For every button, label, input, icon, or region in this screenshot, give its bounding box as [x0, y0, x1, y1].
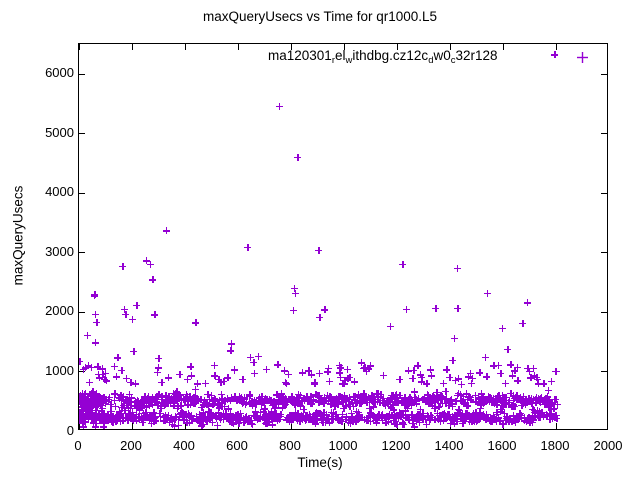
data-point-marker — [129, 409, 136, 416]
data-point-marker — [114, 416, 121, 423]
data-point-marker — [248, 420, 255, 427]
data-point-marker — [263, 396, 270, 403]
data-point-marker — [92, 392, 99, 399]
data-point-marker — [145, 393, 152, 400]
data-point-marker — [122, 311, 129, 318]
data-point-marker — [89, 409, 96, 416]
data-point-marker — [438, 396, 445, 403]
data-point-marker — [297, 402, 304, 409]
data-point-marker — [230, 413, 237, 420]
data-point-marker — [544, 398, 551, 405]
data-point-marker — [379, 417, 386, 424]
data-point-marker — [470, 410, 477, 417]
data-point-marker — [495, 414, 502, 421]
data-point-marker — [100, 423, 107, 430]
data-point-marker — [331, 403, 338, 410]
data-point-marker — [203, 400, 210, 407]
data-point-marker — [123, 375, 130, 382]
data-point-marker — [92, 407, 99, 414]
data-point-marker — [327, 397, 334, 404]
data-point-marker — [353, 408, 360, 415]
data-point-marker — [485, 393, 492, 400]
data-point-marker — [404, 405, 411, 412]
data-point-marker — [545, 404, 552, 411]
data-point-marker — [380, 400, 387, 407]
data-point-marker — [96, 411, 103, 418]
data-point-marker — [382, 400, 389, 407]
data-point-marker — [523, 399, 530, 406]
data-point-marker — [537, 395, 544, 402]
data-point-marker — [82, 390, 89, 397]
data-point-marker — [526, 419, 533, 426]
data-point-marker — [78, 410, 83, 417]
data-point-marker — [88, 416, 95, 423]
data-point-marker — [251, 413, 258, 420]
data-point-marker — [204, 391, 211, 398]
data-point-marker — [196, 411, 203, 418]
data-point-marker — [272, 404, 279, 411]
data-point-marker — [284, 414, 291, 421]
data-point-marker — [131, 414, 138, 421]
data-point-marker — [97, 398, 104, 405]
data-point-marker — [374, 398, 381, 405]
data-point-marker — [407, 399, 414, 406]
data-point-marker — [203, 401, 210, 408]
data-point-marker — [166, 419, 173, 426]
data-point-marker — [305, 416, 312, 423]
data-point-marker — [507, 390, 514, 397]
data-point-marker — [172, 413, 179, 420]
data-point-marker — [528, 395, 535, 402]
data-point-marker — [109, 419, 116, 426]
data-point-marker — [260, 399, 267, 406]
data-point-marker — [424, 392, 431, 399]
data-point-marker — [191, 395, 198, 402]
data-point-marker — [435, 394, 442, 401]
data-point-marker — [101, 376, 108, 383]
data-point-marker — [443, 400, 450, 407]
data-point-marker — [187, 401, 194, 408]
data-point-marker — [375, 391, 382, 398]
data-point-marker — [530, 416, 537, 423]
data-point-marker — [449, 403, 456, 410]
data-point-marker — [118, 404, 125, 411]
data-point-marker — [290, 414, 297, 421]
data-point-marker — [143, 404, 150, 411]
data-point-marker — [234, 416, 241, 423]
data-point-marker — [167, 399, 174, 406]
data-point-marker — [397, 413, 404, 420]
data-point-marker — [328, 415, 335, 422]
data-point-marker — [437, 392, 444, 399]
data-point-marker — [245, 416, 252, 423]
data-point-marker — [87, 407, 94, 414]
data-point-marker — [521, 414, 528, 421]
data-point-marker — [394, 397, 401, 404]
data-point-marker — [388, 412, 395, 419]
data-point-marker — [220, 416, 227, 423]
data-point-marker — [314, 415, 321, 422]
data-point-marker — [317, 395, 324, 402]
data-point-marker — [134, 402, 141, 409]
data-point-marker — [264, 418, 271, 425]
data-point-marker — [237, 395, 244, 402]
data-point-marker — [137, 401, 144, 408]
data-point-marker — [511, 395, 518, 402]
data-point-marker — [290, 307, 297, 314]
data-point-marker — [130, 417, 137, 424]
data-point-marker — [244, 416, 251, 423]
data-point-marker — [387, 403, 394, 410]
data-point-marker — [270, 415, 277, 422]
data-point-marker — [462, 416, 469, 423]
data-point-marker — [220, 378, 227, 385]
data-point-marker — [349, 413, 356, 420]
data-point-marker — [94, 403, 101, 410]
data-point-marker — [157, 403, 164, 410]
data-point-marker — [320, 400, 327, 407]
data-point-marker — [146, 417, 153, 424]
data-point-marker — [390, 401, 397, 408]
data-point-marker — [292, 409, 299, 416]
data-point-marker — [501, 394, 508, 401]
data-point-marker — [168, 414, 175, 421]
data-point-marker — [301, 397, 308, 404]
data-point-marker — [343, 402, 350, 409]
data-point-marker — [126, 391, 133, 398]
data-point-marker — [327, 401, 334, 408]
data-point-marker — [267, 399, 274, 406]
data-point-marker — [249, 421, 256, 428]
data-point-marker — [538, 411, 545, 418]
data-point-marker — [179, 411, 186, 418]
data-point-marker — [547, 402, 554, 409]
data-point-marker — [152, 414, 159, 421]
data-point-marker — [408, 414, 415, 421]
data-point-marker — [533, 394, 540, 401]
data-point-marker — [374, 390, 381, 397]
data-point-marker — [83, 405, 90, 412]
data-point-marker — [209, 397, 216, 404]
data-point-marker — [276, 397, 283, 404]
data-point-marker — [271, 400, 278, 407]
data-point-marker — [200, 409, 207, 416]
data-point-marker — [453, 416, 460, 423]
data-point-marker — [217, 379, 224, 386]
data-point-marker — [108, 413, 115, 420]
data-point-marker — [269, 412, 276, 419]
data-point-marker — [221, 397, 228, 404]
data-point-marker — [402, 414, 409, 421]
data-point-marker — [302, 415, 309, 422]
data-point-marker — [104, 415, 111, 422]
data-point-marker — [428, 372, 435, 379]
data-point-marker — [154, 402, 161, 409]
data-point-marker — [347, 420, 354, 427]
data-point-marker — [85, 412, 92, 419]
data-point-marker — [431, 405, 438, 412]
data-point-marker — [163, 416, 170, 423]
data-point-marker — [239, 376, 246, 383]
data-point-marker — [252, 399, 259, 406]
data-point-marker — [229, 414, 236, 421]
data-point-marker — [443, 395, 450, 402]
data-point-marker — [99, 365, 106, 372]
data-point-marker — [553, 368, 560, 375]
x-tick-label: 1400 — [435, 439, 464, 452]
data-point-marker — [78, 395, 84, 402]
data-point-marker — [520, 393, 527, 400]
data-point-marker — [466, 414, 473, 421]
y-tick-mark-right — [601, 74, 607, 75]
data-point-marker — [250, 412, 257, 419]
data-point-marker — [544, 393, 551, 400]
data-point-marker — [353, 418, 360, 425]
data-point-marker — [462, 410, 469, 417]
data-point-marker — [485, 394, 492, 401]
x-tick-mark — [291, 423, 292, 429]
data-point-marker — [394, 399, 401, 406]
data-point-marker — [489, 417, 496, 424]
data-point-marker — [231, 366, 238, 373]
data-point-marker — [238, 414, 245, 421]
data-point-marker — [430, 395, 437, 402]
x-tick-mark — [503, 423, 504, 429]
data-point-marker — [104, 417, 111, 424]
data-point-marker — [201, 413, 208, 420]
data-point-marker — [525, 395, 532, 402]
data-point-marker — [497, 370, 504, 377]
data-point-marker — [176, 414, 183, 421]
data-point-marker — [119, 414, 126, 421]
data-point-marker — [193, 395, 200, 402]
data-point-marker — [177, 402, 184, 409]
data-point-marker — [330, 409, 337, 416]
data-point-marker — [268, 408, 275, 415]
data-point-marker — [442, 412, 449, 419]
data-point-marker — [151, 415, 158, 422]
data-point-marker — [99, 371, 106, 378]
data-point-marker — [302, 417, 309, 424]
data-point-marker — [203, 418, 210, 425]
data-point-marker — [87, 395, 94, 402]
data-point-marker — [501, 400, 508, 407]
data-point-marker — [389, 398, 396, 405]
data-point-marker — [443, 366, 450, 373]
data-point-marker — [100, 398, 107, 405]
data-point-marker — [385, 415, 392, 422]
data-point-marker — [441, 396, 448, 403]
data-point-marker — [426, 416, 433, 423]
data-point-marker — [457, 397, 464, 404]
data-point-marker — [399, 421, 406, 428]
data-point-marker — [251, 370, 258, 377]
data-point-marker — [287, 412, 294, 419]
data-point-marker — [210, 397, 217, 404]
data-point-marker — [381, 399, 388, 406]
data-point-marker — [226, 414, 233, 421]
data-point-marker — [146, 414, 153, 421]
data-point-marker — [139, 398, 146, 405]
data-point-marker — [368, 394, 375, 401]
data-point-marker — [206, 396, 213, 403]
data-point-marker — [307, 400, 314, 407]
data-point-marker — [401, 394, 408, 401]
data-point-marker — [541, 401, 548, 408]
data-point-marker — [147, 398, 154, 405]
data-point-marker — [311, 379, 318, 386]
data-point-marker — [477, 415, 484, 422]
data-point-marker — [162, 412, 169, 419]
data-point-marker — [96, 394, 103, 401]
data-point-marker — [484, 415, 491, 422]
data-point-marker — [478, 401, 485, 408]
data-point-marker — [430, 392, 437, 399]
data-point-marker — [296, 414, 303, 421]
data-point-marker — [78, 403, 85, 410]
x-tick-label: 400 — [173, 439, 195, 452]
legend: ma120301relwithdbg.cz12cdw0c32r128 — [268, 48, 498, 63]
data-point-marker — [387, 323, 394, 330]
data-point-marker — [78, 413, 83, 420]
data-point-marker — [451, 335, 458, 342]
data-point-marker — [116, 408, 123, 415]
data-point-marker — [293, 399, 300, 406]
data-point-marker — [370, 393, 377, 400]
data-point-marker — [404, 397, 411, 404]
data-point-marker — [403, 414, 410, 421]
data-point-marker — [413, 397, 420, 404]
data-point-marker — [140, 414, 147, 421]
data-point-marker — [431, 398, 438, 405]
data-point-marker — [202, 380, 209, 387]
data-point-marker — [290, 396, 297, 403]
data-point-marker — [99, 402, 106, 409]
data-point-marker — [149, 276, 156, 283]
data-point-marker — [258, 393, 265, 400]
data-point-marker — [85, 395, 92, 402]
data-point-marker — [223, 414, 230, 421]
data-point-marker — [163, 399, 170, 406]
data-point-marker — [96, 413, 103, 420]
data-point-marker — [341, 395, 348, 402]
data-point-marker — [534, 376, 541, 383]
x-axis-title: Time(s) — [0, 455, 640, 470]
data-point-marker — [322, 419, 329, 426]
data-point-marker — [117, 418, 124, 425]
data-point-marker — [393, 391, 400, 398]
data-point-marker — [316, 392, 323, 399]
data-point-marker — [532, 399, 539, 406]
data-point-marker — [551, 414, 558, 421]
data-point-marker — [300, 395, 307, 402]
data-point-marker — [445, 402, 452, 409]
data-point-marker — [261, 413, 268, 420]
data-point-marker — [276, 393, 283, 400]
x-tick-mark-top — [79, 44, 80, 50]
data-point-marker — [263, 419, 270, 426]
data-point-marker — [226, 415, 233, 422]
data-point-marker — [92, 311, 99, 318]
data-point-marker — [284, 416, 291, 423]
data-point-marker — [127, 398, 134, 405]
data-point-marker — [409, 420, 416, 427]
data-point-marker — [360, 365, 367, 372]
data-point-marker — [540, 380, 547, 387]
data-point-marker — [79, 390, 86, 397]
data-point-marker — [257, 397, 264, 404]
data-point-marker — [195, 417, 202, 424]
data-point-marker — [456, 410, 463, 417]
data-point-marker — [331, 397, 338, 404]
data-point-marker — [356, 400, 363, 407]
data-point-marker — [386, 398, 393, 405]
data-point-marker — [299, 416, 306, 423]
data-point-marker — [78, 398, 84, 405]
data-point-marker — [267, 397, 274, 404]
data-point-marker — [414, 411, 421, 418]
data-point-marker — [436, 394, 443, 401]
data-point-marker — [530, 365, 537, 372]
data-point-marker — [381, 399, 388, 406]
data-point-marker — [233, 412, 240, 419]
data-point-marker — [366, 412, 373, 419]
data-point-marker — [130, 413, 137, 420]
data-point-marker — [116, 415, 123, 422]
data-point-marker — [361, 416, 368, 423]
data-point-marker — [78, 396, 84, 403]
data-point-marker — [487, 418, 494, 425]
data-point-marker — [138, 399, 145, 406]
data-point-marker — [93, 319, 100, 326]
data-point-marker — [202, 416, 209, 423]
data-point-marker — [204, 414, 211, 421]
data-point-marker — [349, 399, 356, 406]
data-point-marker — [546, 396, 553, 403]
data-point-marker — [540, 413, 547, 420]
data-point-marker — [391, 396, 398, 403]
data-point-marker — [88, 409, 95, 416]
data-point-marker — [427, 412, 434, 419]
data-point-marker — [367, 418, 374, 425]
data-point-marker — [321, 306, 328, 313]
data-point-marker — [385, 413, 392, 420]
data-point-marker — [469, 416, 476, 423]
data-point-marker — [275, 413, 282, 420]
data-point-marker — [279, 404, 286, 411]
data-point-marker — [317, 411, 324, 418]
data-point-marker — [117, 410, 124, 417]
data-point-marker — [240, 419, 247, 426]
data-point-marker — [243, 415, 250, 422]
data-point-marker — [549, 399, 556, 406]
data-point-marker — [78, 398, 83, 405]
data-point-marker — [529, 413, 536, 420]
data-point-marker — [126, 410, 133, 417]
data-point-marker — [376, 399, 383, 406]
data-point-marker — [301, 415, 308, 422]
data-point-marker — [102, 370, 109, 377]
data-point-marker — [420, 416, 427, 423]
data-point-marker — [207, 411, 214, 418]
data-point-marker — [344, 395, 351, 402]
data-point-marker — [299, 413, 306, 420]
data-point-marker — [199, 413, 206, 420]
data-point-marker — [89, 397, 96, 404]
data-point-marker — [481, 398, 488, 405]
x-tick-mark — [450, 423, 451, 429]
data-point-marker — [267, 397, 274, 404]
